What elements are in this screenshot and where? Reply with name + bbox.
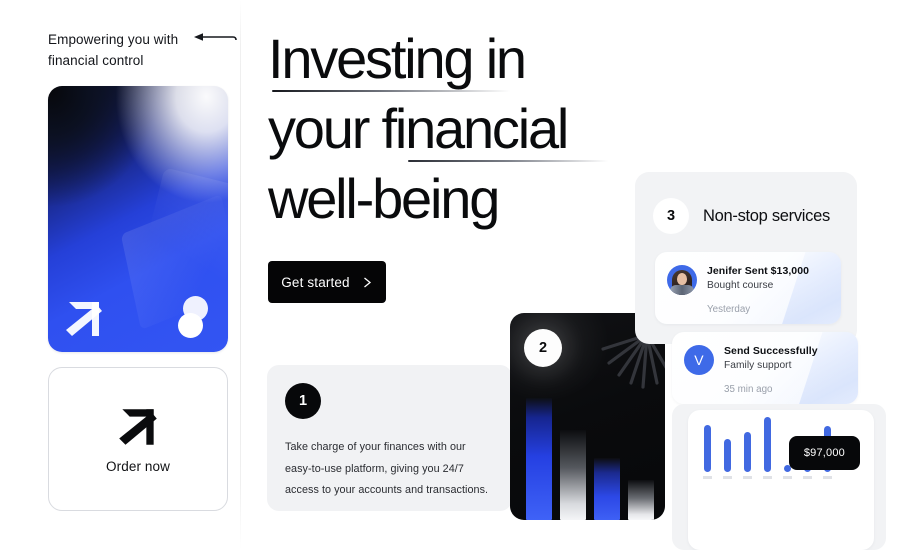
notification-card[interactable]: Jenifer Sent $13,000 Bought course Yeste… (655, 252, 841, 324)
chart-bar (764, 417, 771, 472)
step-2-bar-graphic (510, 345, 665, 520)
graphic-bar (628, 480, 654, 520)
chart-bar (724, 439, 731, 472)
headline-line-1: Investing in (268, 22, 628, 96)
chart-tick-label (743, 476, 752, 479)
get-started-button[interactable]: Get started (268, 261, 386, 303)
overlapping-circles-icon (178, 296, 212, 338)
chart-tick-label (763, 476, 772, 479)
headline-line-3: well-being (268, 162, 628, 236)
chart-tick-label (723, 476, 732, 479)
order-now-card[interactable]: Order now (48, 367, 228, 511)
step-card-1: 1 Take charge of your finances with our … (267, 365, 512, 511)
landing-page-root: Empowering you with financial control (0, 0, 900, 550)
chevron-right-icon (362, 277, 373, 288)
balance-chart-card: $97,000 (688, 410, 874, 550)
notification-card[interactable]: V Send Successfully Family support 35 mi… (672, 332, 858, 404)
brand-arrow-logo-icon (61, 298, 107, 340)
step-badge-1: 1 (285, 383, 321, 419)
chart-bar (744, 432, 751, 472)
avatar-jenifer (667, 265, 697, 295)
step-badge-3: 3 (653, 198, 689, 234)
notification-timestamp: Yesterday (655, 295, 841, 324)
graphic-bar (560, 430, 586, 520)
eyebrow-text: Empowering you with financial control (48, 30, 188, 72)
headline-line-2: your financial (268, 92, 628, 166)
step-card-2: 2 (510, 313, 665, 520)
notification-title: Send Successfully (724, 345, 818, 357)
brand-arrow-logo-icon (114, 405, 162, 449)
chart-tick-label (703, 476, 712, 479)
notification-title: Jenifer Sent $13,000 (707, 265, 809, 277)
order-now-label: Order now (106, 459, 170, 474)
notification-subtitle: Bought course (707, 280, 809, 291)
credit-card-visual (48, 86, 228, 352)
chart-bar (704, 425, 711, 472)
graphic-bar (594, 458, 620, 520)
chart-tick-label (823, 476, 832, 479)
notification-timestamp: 35 min ago (672, 375, 858, 404)
vertical-divider (240, 0, 241, 550)
services-header: 3 Non-stop services (635, 172, 857, 234)
chart-tick-label (783, 476, 792, 479)
graphic-bar (526, 398, 552, 520)
get-started-label: Get started (281, 275, 349, 290)
step-1-body: Take charge of your finances with our ea… (285, 437, 494, 502)
notification-subtitle: Family support (724, 360, 818, 371)
page-title: Investing in your financial well-being (268, 22, 628, 236)
amount-badge: $97,000 (789, 436, 860, 470)
chart-tick-label (803, 476, 812, 479)
avatar-initial-v: V (684, 345, 714, 375)
services-title: Non-stop services (703, 207, 830, 226)
